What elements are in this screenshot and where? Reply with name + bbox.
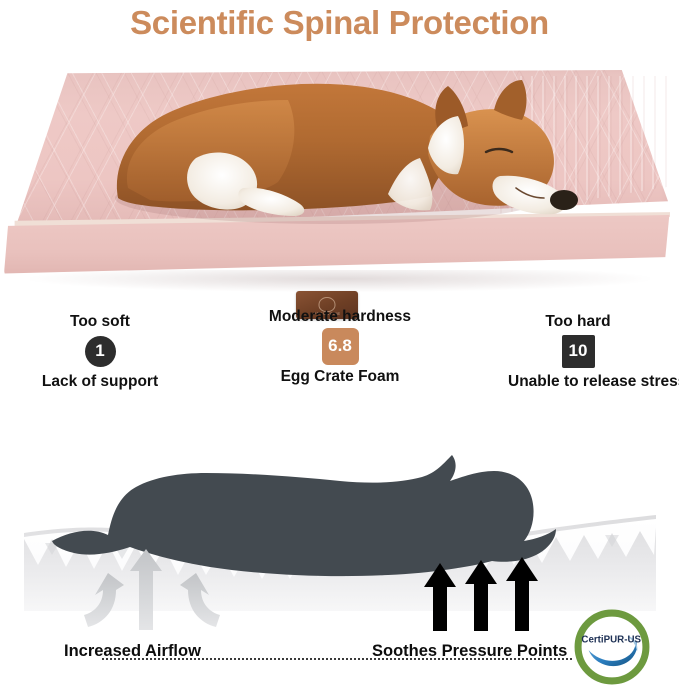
- scale-point-moderate: Moderate hardness 6.8 Egg Crate Foam: [245, 308, 435, 386]
- logo-brand-name: CertiPUR-US: [581, 634, 641, 645]
- label-increased-airflow: Increased Airflow: [64, 642, 201, 661]
- scale-badge-1: 1: [85, 336, 116, 367]
- corgi-dog-photo: [0, 48, 679, 298]
- label-soothes-pressure-points: Soothes Pressure Points: [372, 642, 567, 661]
- certipur-us-logo: CONTAINS CERTIFIED FLEXIBLE POLYURETHANE…: [573, 608, 651, 686]
- hardness-scale: Too soft 1 Lack of support Moderate hard…: [0, 305, 679, 410]
- hero-product-photo: PETSHOME: [0, 48, 679, 298]
- scale-top-label: Too soft: [30, 313, 170, 331]
- scale-point-too-soft: Too soft 1 Lack of support: [30, 313, 170, 391]
- scale-bottom-label: Egg Crate Foam: [245, 368, 435, 386]
- scale-bottom-label: Lack of support: [30, 373, 170, 391]
- scale-top-label: Moderate hardness: [245, 308, 435, 326]
- scale-badge-10: 10: [562, 335, 595, 368]
- scale-bottom-label: Unable to release stress: [508, 373, 648, 391]
- scale-top-label: Too hard: [508, 313, 648, 331]
- scale-point-too-hard: Too hard 10 Unable to release stress: [508, 313, 648, 391]
- page-title: Scientific Spinal Protection: [0, 0, 679, 46]
- dog-nose: [550, 190, 578, 210]
- pressure-arrows: [424, 557, 538, 631]
- scale-badge-68: 6.8: [322, 328, 359, 365]
